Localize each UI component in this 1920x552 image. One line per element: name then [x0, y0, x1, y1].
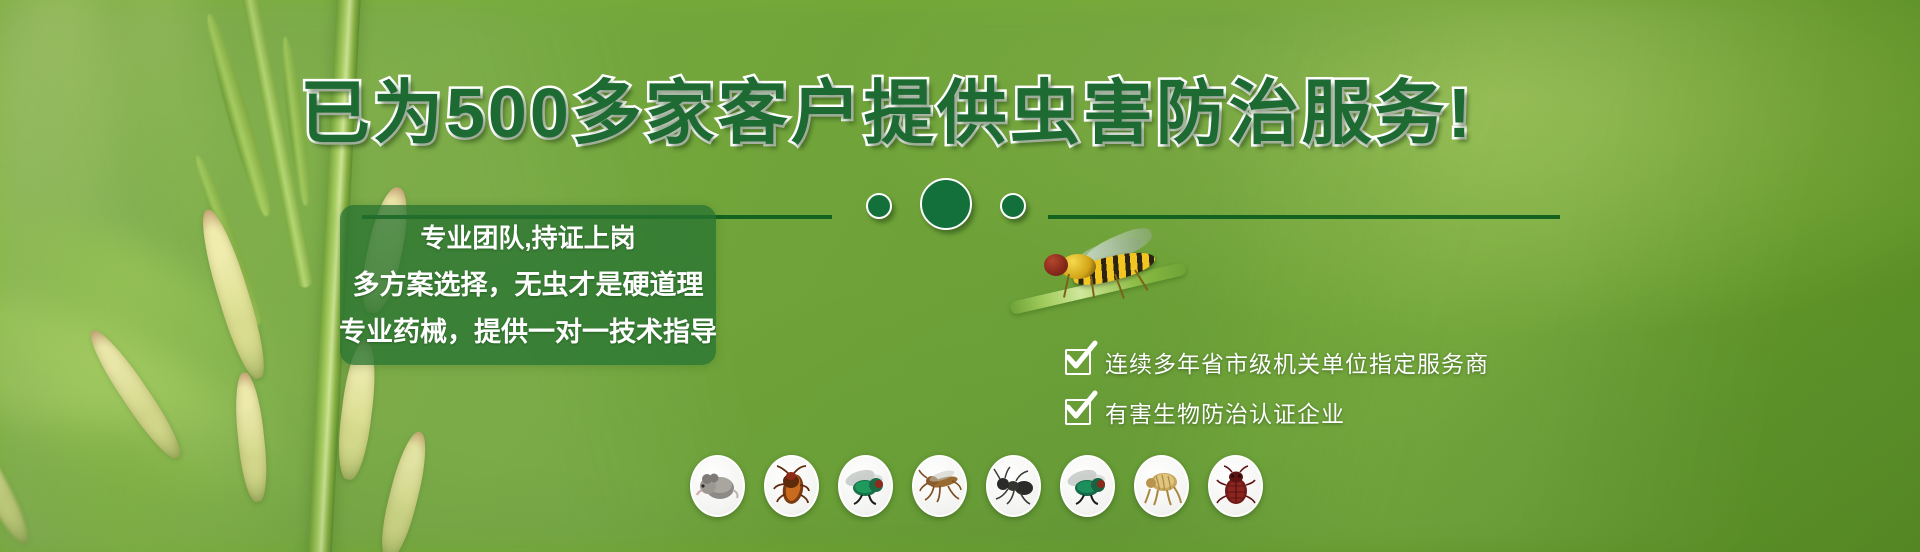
- page-title: 已为500多家客户提供虫害防治服务!: [300, 78, 1570, 148]
- pest-icon-housefly[interactable]: [1060, 455, 1115, 517]
- feature-panel-line-3: 专业药械，提供一对一技术指导: [339, 310, 717, 349]
- decorative-dot-large-center: [920, 178, 972, 230]
- check-box-icon: [1065, 399, 1091, 425]
- pest-icon-mouse[interactable]: [690, 455, 745, 517]
- credentials-list: 连续多年省市级机关单位指定服务商 有害生物防治认证企业: [1065, 337, 1489, 437]
- hoverfly-photo: [1038, 238, 1168, 296]
- hoverfly-leg: [1134, 269, 1148, 290]
- feature-panel-line-2: 多方案选择，无虫才是硬道理: [353, 263, 704, 302]
- pest-icon-bedbug[interactable]: [1208, 455, 1263, 517]
- pest-icon-mosquito[interactable]: [912, 455, 967, 517]
- pest-icon-cockroach[interactable]: [764, 455, 819, 517]
- hoverfly-leg: [1063, 274, 1070, 298]
- credential-label: 有害生物防治认证企业: [1105, 395, 1345, 429]
- pest-icon-flea[interactable]: [1134, 455, 1189, 517]
- divider-right: [1048, 215, 1560, 219]
- pest-icon-ant[interactable]: [986, 455, 1041, 517]
- decorative-dot-small-left: [866, 193, 892, 219]
- decorative-dot-small-right: [1000, 193, 1026, 219]
- hoverfly-head: [1044, 254, 1068, 276]
- credential-label: 连续多年省市级机关单位指定服务商: [1105, 345, 1489, 379]
- list-item: 有害生物防治认证企业: [1065, 387, 1489, 437]
- feature-panel-line-1: 专业团队,持证上岗: [420, 218, 635, 255]
- check-box-icon: [1065, 349, 1091, 375]
- feature-panel: 专业团队,持证上岗 多方案选择，无虫才是硬道理 专业药械，提供一对一技术指导: [340, 205, 716, 365]
- pest-control-banner: 已为500多家客户提供虫害防治服务! 专业团队,持证上岗 多方案选择，无虫才是硬…: [0, 0, 1920, 552]
- list-item: 连续多年省市级机关单位指定服务商: [1065, 337, 1489, 387]
- pest-icon-row: [690, 455, 1263, 517]
- pest-icon-green-fly[interactable]: [838, 455, 893, 517]
